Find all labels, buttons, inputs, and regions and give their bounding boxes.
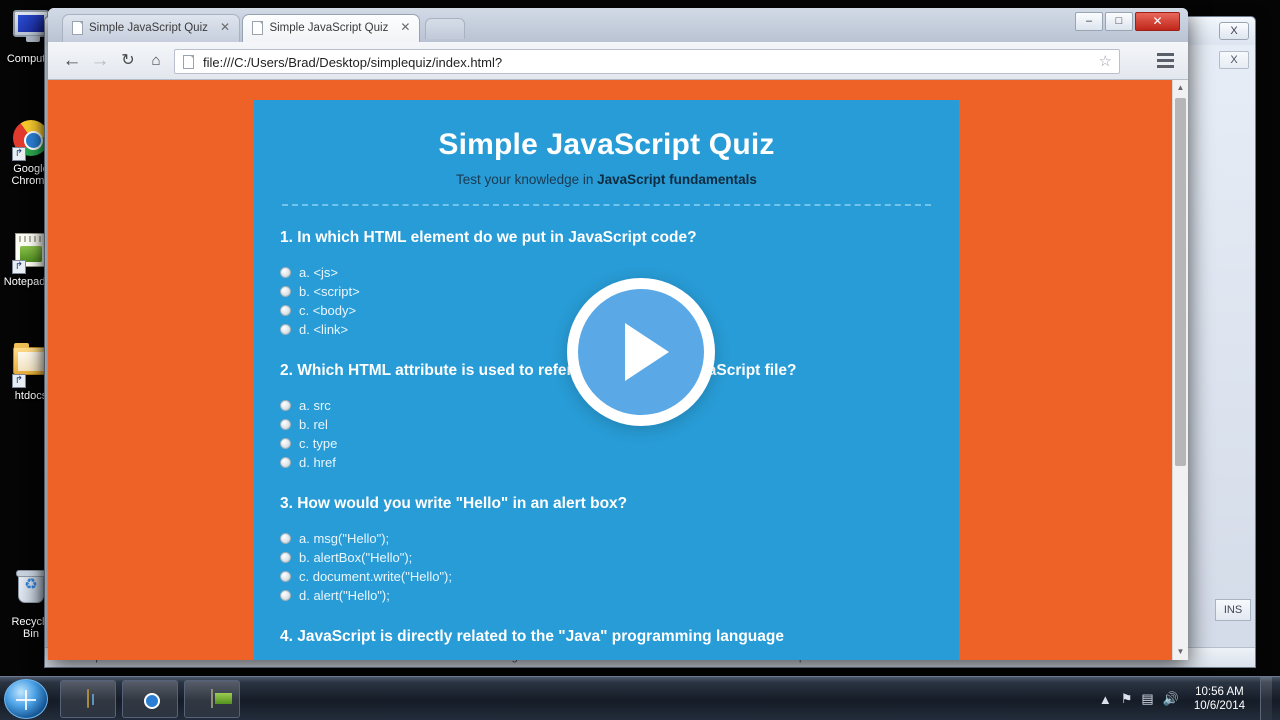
option-label: c. <body> [299, 303, 356, 318]
option-label: d. href [299, 455, 336, 470]
reload-icon[interactable]: ↻ [116, 49, 140, 73]
question-block: 4. JavaScript is directly related to the… [254, 627, 959, 660]
option-label: c. type [299, 436, 337, 451]
option-row[interactable]: a. <js> [280, 263, 959, 282]
page-favicon-icon [72, 21, 83, 35]
background-document-close-button[interactable]: X [1219, 51, 1249, 69]
tab-close-icon[interactable]: ✕ [218, 21, 232, 35]
network-icon[interactable]: ▤ [1141, 691, 1153, 707]
volume-icon[interactable]: 🔊 [1163, 691, 1179, 707]
question-block: 3. How would you write "Hello" in an ale… [254, 494, 959, 605]
option-label: b. alertBox("Hello"); [299, 550, 412, 565]
radio-button-icon[interactable] [280, 400, 291, 411]
window-controls[interactable]: – □ ✕ [1075, 12, 1180, 31]
question-text: 4. JavaScript is directly related to the… [280, 627, 959, 647]
divider [282, 204, 931, 206]
maximize-button[interactable]: □ [1105, 12, 1133, 31]
taskbar-item-google-chrome[interactable] [122, 680, 178, 718]
notepad-plus-plus-icon [211, 690, 213, 708]
browser-toolbar[interactable]: ← → ↻ ⌂ file:///C:/Users/Brad/Desktop/si… [48, 42, 1188, 80]
taskbar-item-notepad-plus-plus[interactable] [184, 680, 240, 718]
statusbar-insert-mode: INS [1215, 599, 1251, 621]
scroll-up-icon[interactable]: ▲ [1173, 80, 1188, 96]
flag-action-center-icon[interactable]: ⚑ [1121, 691, 1133, 707]
show-hidden-icons-icon[interactable]: ▲ [1099, 692, 1112, 707]
new-tab-button[interactable] [425, 18, 465, 39]
option-label: b. <script> [299, 284, 360, 299]
option-label: a. src [299, 398, 331, 413]
option-label: b. rel [299, 417, 328, 432]
taskbar[interactable]: ▲ ⚑ ▤ 🔊 10:56 AM 10/6/2014 [0, 676, 1280, 720]
minimize-icon: – [1076, 13, 1102, 30]
option-row[interactable]: c. type [280, 434, 959, 453]
radio-button-icon[interactable] [280, 267, 291, 278]
option-row[interactable]: d. alert("Hello"); [280, 586, 959, 605]
browser-tab-title: Simple JavaScript Quiz [89, 21, 215, 36]
start-button[interactable] [4, 679, 48, 719]
option-list: a. msg("Hello"); b. alertBox("Hello"); c… [280, 529, 959, 605]
option-label: a. <js> [299, 265, 338, 280]
close-icon: ✕ [1136, 13, 1179, 30]
option-row[interactable]: b. alertBox("Hello"); [280, 548, 959, 567]
back-icon[interactable]: ← [60, 49, 84, 73]
play-button[interactable] [567, 278, 715, 426]
scroll-down-icon[interactable]: ▼ [1173, 644, 1188, 660]
hamburger-menu-icon[interactable] [1157, 53, 1174, 68]
clock-date: 10/6/2014 [1194, 699, 1245, 713]
page-favicon-icon [183, 55, 194, 69]
radio-button-icon[interactable] [280, 324, 291, 335]
option-label: a. msg("Hello"); [299, 531, 389, 546]
scrollbar-thumb[interactable] [1175, 98, 1186, 466]
tab-close-icon[interactable]: ✕ [398, 21, 412, 35]
home-icon[interactable]: ⌂ [144, 49, 168, 73]
forward-icon[interactable]: → [88, 49, 112, 73]
play-triangle-icon [625, 323, 669, 381]
page-title: Simple JavaScript Quiz [254, 100, 959, 162]
address-bar[interactable]: file:///C:/Users/Brad/Desktop/simplequiz… [174, 49, 1120, 74]
folder-icon [87, 690, 89, 708]
show-desktop-button[interactable] [1260, 677, 1272, 720]
subtitle-prefix: Test your knowledge in [456, 172, 597, 187]
browser-tab-title: Simple JavaScript Quiz [269, 21, 395, 36]
minimize-button[interactable]: – [1075, 12, 1103, 31]
background-window-close-button[interactable]: X [1219, 22, 1249, 40]
close-button[interactable]: ✕ [1135, 12, 1180, 31]
option-row[interactable]: a. msg("Hello"); [280, 529, 959, 548]
address-bar-url: file:///C:/Users/Brad/Desktop/simplequiz… [203, 54, 1089, 71]
clock-time: 10:56 AM [1194, 685, 1245, 699]
browser-tab-1[interactable]: Simple JavaScript Quiz ✕ [62, 14, 240, 42]
browser-window[interactable]: Simple JavaScript Quiz ✕ Simple JavaScri… [48, 8, 1188, 660]
taskbar-item-windows-explorer[interactable] [60, 680, 116, 718]
radio-button-icon[interactable] [280, 305, 291, 316]
option-row[interactable]: d. href [280, 453, 959, 472]
radio-button-icon[interactable] [280, 286, 291, 297]
radio-button-icon[interactable] [280, 590, 291, 601]
bookmark-star-icon[interactable]: ☆ [1099, 54, 1112, 70]
radio-button-icon[interactable] [280, 419, 291, 430]
browser-tab-2[interactable]: Simple JavaScript Quiz ✕ [242, 14, 420, 42]
browser-tabstrip[interactable]: Simple JavaScript Quiz ✕ Simple JavaScri… [48, 8, 1188, 42]
page-subtitle: Test your knowledge in JavaScript fundam… [254, 162, 959, 187]
radio-button-icon[interactable] [280, 571, 291, 582]
radio-button-icon[interactable] [280, 552, 291, 563]
radio-button-icon[interactable] [280, 438, 291, 449]
subtitle-emphasis: JavaScript fundamentals [597, 172, 757, 187]
option-row[interactable]: c. document.write("Hello"); [280, 567, 959, 586]
page-scrollbar[interactable]: ▲ ▼ [1172, 80, 1188, 660]
system-tray[interactable]: ▲ ⚑ ▤ 🔊 10:56 AM 10/6/2014 [1099, 677, 1280, 720]
maximize-icon: □ [1106, 13, 1132, 30]
page-favicon-icon [252, 21, 263, 35]
option-label: d. alert("Hello"); [299, 588, 390, 603]
radio-button-icon[interactable] [280, 457, 291, 468]
question-text: 3. How would you write "Hello" in an ale… [280, 494, 959, 514]
option-label: d. <link> [299, 322, 348, 337]
page-viewport: Simple JavaScript Quiz Test your knowled… [48, 80, 1188, 660]
radio-button-icon[interactable] [280, 533, 291, 544]
question-text: 1. In which HTML element do we put in Ja… [280, 228, 959, 248]
clock[interactable]: 10:56 AM 10/6/2014 [1188, 685, 1251, 713]
option-label: c. document.write("Hello"); [299, 569, 452, 584]
